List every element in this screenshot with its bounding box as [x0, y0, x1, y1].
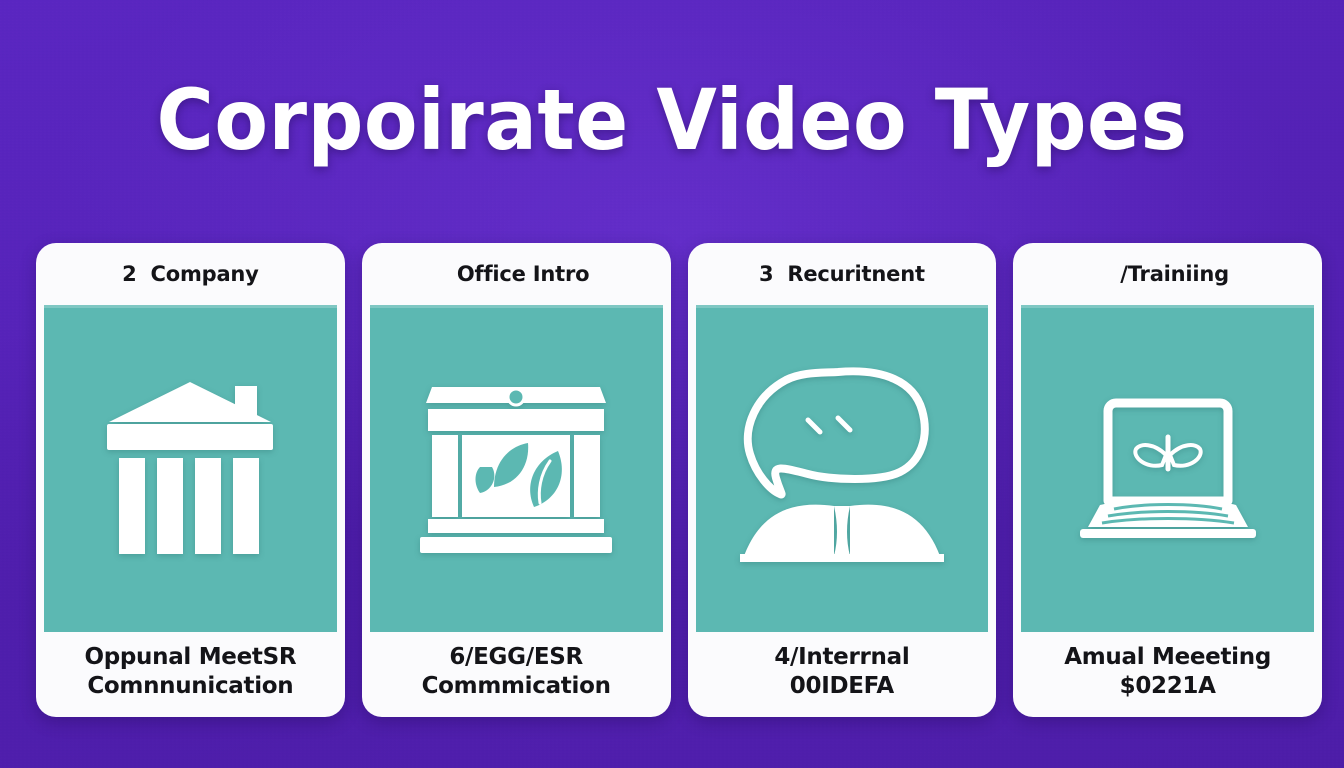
card-footer-line-2: Commmication	[422, 672, 611, 700]
page-title: Corpoirate Video Types	[47, 78, 1297, 162]
card-footer-line-2: $0221A	[1120, 672, 1216, 700]
card-training[interactable]: /Trainiing	[1013, 243, 1322, 717]
card-footer-line-1: Amual Meeeting	[1064, 643, 1271, 671]
card-header-label: /Trainiing	[1120, 262, 1229, 286]
card-footer: Amual Meeeting $0221A	[1013, 632, 1322, 717]
card-footer: 4/Interrnal 00IDEFA	[688, 632, 997, 717]
card-recruitment[interactable]: 3 Recuritnent	[688, 243, 997, 717]
card-footer: 6/EGG/ESR Commmication	[362, 632, 671, 717]
card-grid: 2 Company Oppunal MeetSR	[36, 243, 1322, 717]
card-footer-line-2: Comnnunication	[87, 672, 293, 700]
card-header-label: Recuritnent	[787, 262, 924, 286]
card-header: 2 Company	[36, 243, 345, 305]
card-header-label: Company	[151, 262, 259, 286]
card-header-index: 3	[759, 262, 773, 286]
card-footer-line-2: 00IDEFA	[790, 672, 894, 700]
card-footer-line-1: Oppunal MeetSR	[84, 643, 296, 671]
card-header: 3 Recuritnent	[688, 243, 997, 305]
card-media-panel	[370, 305, 663, 632]
card-footer-line-1: 4/Interrnal	[774, 643, 909, 671]
poster-canvas: Corpoirate Video Types 2 Company	[0, 0, 1344, 768]
speech-bubble-book-icon	[734, 366, 950, 572]
classical-building-icon	[95, 376, 285, 561]
framed-display-leaves-icon	[418, 381, 614, 557]
card-footer-line-1: 6/EGG/ESR	[449, 643, 583, 671]
laptop-sprout-icon	[1070, 393, 1266, 545]
card-company[interactable]: 2 Company Oppunal MeetSR	[36, 243, 345, 717]
card-footer: Oppunal MeetSR Comnnunication	[36, 632, 345, 717]
card-header: /Trainiing	[1013, 243, 1322, 305]
card-office-intro[interactable]: Office Intro	[362, 243, 671, 717]
card-header-label: Office Intro	[457, 262, 590, 286]
card-media-panel	[44, 305, 337, 632]
card-header: Office Intro	[362, 243, 671, 305]
card-media-panel	[1021, 305, 1314, 632]
card-header-index: 2	[122, 262, 136, 286]
card-media-panel	[696, 305, 989, 632]
